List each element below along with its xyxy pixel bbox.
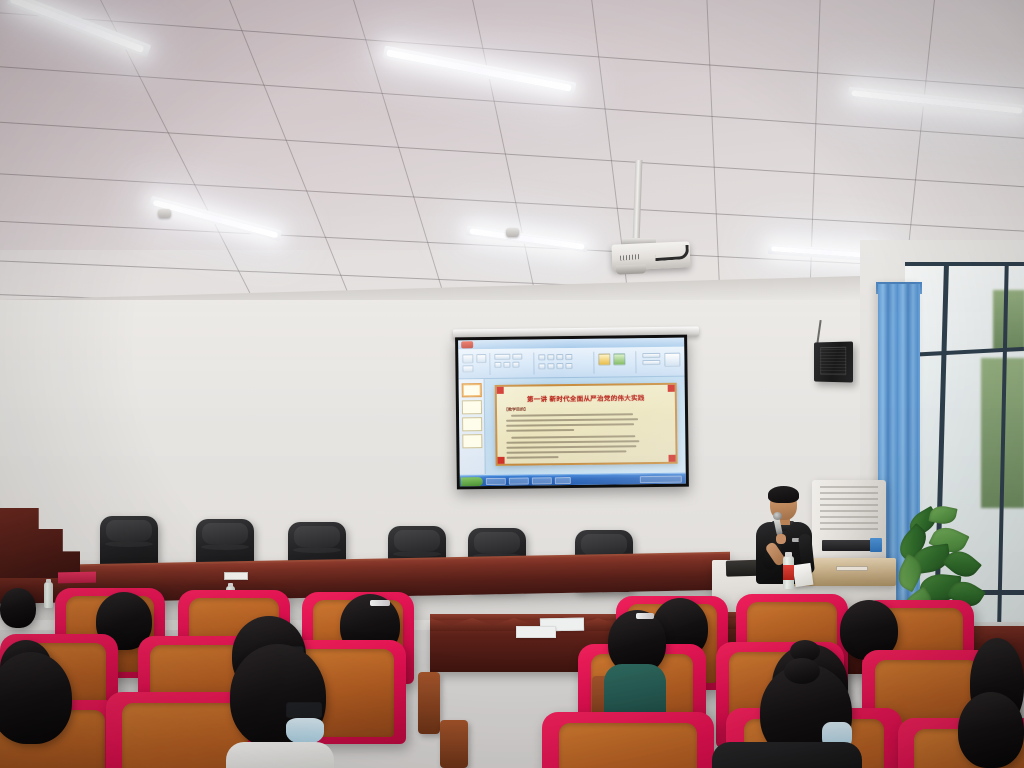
hair-clip bbox=[636, 613, 654, 619]
person-head bbox=[0, 652, 72, 744]
name-card bbox=[224, 572, 248, 580]
projector-vent bbox=[620, 254, 640, 261]
ceiling-tint bbox=[0, 0, 1024, 250]
replace-icon[interactable] bbox=[642, 360, 660, 365]
person-head bbox=[0, 588, 36, 628]
system-tray[interactable] bbox=[640, 476, 682, 484]
bottle-cap bbox=[46, 579, 51, 583]
slide-thumbnail[interactable] bbox=[462, 434, 482, 448]
smoke-detector-icon bbox=[506, 228, 519, 237]
presenter-hand bbox=[776, 534, 786, 544]
office-orb-icon[interactable] bbox=[461, 341, 473, 348]
projection-screen: 第一讲 新时代全面从严治党的伟大实践 【教学目的】 bbox=[455, 335, 689, 490]
speaker-grill-icon bbox=[820, 347, 846, 375]
start-button[interactable] bbox=[461, 477, 483, 486]
slide-corner-accent bbox=[495, 385, 504, 394]
chair-headrest bbox=[202, 523, 248, 544]
chair-headrest bbox=[581, 534, 627, 555]
face-mask bbox=[286, 718, 324, 744]
audience-member bbox=[958, 692, 1024, 768]
powerpoint-ribbon[interactable] bbox=[458, 347, 684, 380]
slide-body-line bbox=[506, 450, 626, 454]
slide-corner-accent bbox=[668, 383, 677, 392]
slide-thumbnail[interactable] bbox=[462, 383, 482, 397]
shape-gallery-icon[interactable] bbox=[598, 354, 610, 366]
person-head bbox=[958, 692, 1024, 768]
podium-paper-slot bbox=[836, 566, 868, 571]
chair-headrest bbox=[394, 530, 440, 551]
chair-headrest bbox=[106, 520, 152, 541]
bottle-label bbox=[783, 565, 794, 580]
drink-bottle bbox=[783, 556, 794, 589]
microphone-head-icon bbox=[773, 512, 782, 520]
audience-member bbox=[0, 588, 36, 628]
underline-icon[interactable] bbox=[512, 362, 519, 368]
select-icon[interactable] bbox=[664, 353, 680, 367]
number-list-icon[interactable] bbox=[547, 354, 554, 360]
audience-member bbox=[0, 652, 72, 744]
slide-thumbnail[interactable] bbox=[462, 417, 482, 431]
italic-icon[interactable] bbox=[503, 362, 510, 368]
slide-corner-accent bbox=[496, 457, 505, 466]
align-center-icon[interactable] bbox=[547, 363, 554, 369]
slide-thumbnail[interactable] bbox=[462, 400, 482, 414]
desk-paper bbox=[516, 626, 556, 638]
font-size-box[interactable] bbox=[512, 354, 522, 360]
hair-bun bbox=[784, 658, 820, 684]
seat-cushion bbox=[559, 723, 697, 768]
paste-icon[interactable] bbox=[462, 354, 473, 363]
ac-vent-icon bbox=[820, 486, 878, 530]
slide-body-line bbox=[511, 435, 635, 439]
presenter-hair bbox=[768, 486, 799, 503]
slide-body-line bbox=[507, 456, 559, 459]
smoke-detector-icon bbox=[158, 209, 171, 218]
seat-armrest bbox=[418, 672, 440, 734]
hair-clip bbox=[370, 600, 390, 606]
slide-body-line bbox=[506, 440, 639, 444]
presenter-notes bbox=[793, 563, 814, 587]
red-desk-pad bbox=[58, 572, 96, 584]
bullet-list-icon[interactable] bbox=[538, 354, 545, 360]
taskbar-item[interactable] bbox=[532, 477, 552, 484]
slide-body-line bbox=[511, 413, 633, 417]
person-torso bbox=[712, 742, 862, 768]
slide-body-line bbox=[506, 429, 574, 432]
slide-corner-accent bbox=[669, 455, 678, 464]
find-icon[interactable] bbox=[642, 353, 660, 358]
person-torso bbox=[226, 742, 334, 768]
chair-headrest bbox=[474, 532, 520, 553]
cut-icon[interactable] bbox=[462, 365, 473, 372]
windows-taskbar[interactable] bbox=[460, 473, 686, 487]
audience-member bbox=[230, 644, 326, 748]
projected-desktop: 第一讲 新时代全面从严治党的伟大实践 【教学目的】 bbox=[458, 338, 686, 487]
bottle-cap bbox=[785, 552, 792, 557]
justify-icon[interactable] bbox=[565, 363, 572, 369]
indent-icon[interactable] bbox=[556, 354, 563, 360]
lecture-hall-photo: 第一讲 新时代全面从严治党的伟大实践 【教学目的】 bbox=[0, 0, 1024, 768]
taskbar-item[interactable] bbox=[509, 478, 529, 485]
window-foliage-view bbox=[993, 290, 1024, 350]
slide-thumbnail-pane[interactable] bbox=[459, 379, 486, 474]
font-name-box[interactable] bbox=[494, 354, 510, 360]
wall-mounted-speaker bbox=[814, 341, 853, 382]
slide-body-line bbox=[506, 418, 638, 422]
slide-subheading: 【教学目的】 bbox=[504, 407, 528, 413]
new-slide-icon[interactable] bbox=[476, 354, 486, 363]
arrange-icon[interactable] bbox=[613, 353, 625, 365]
align-left-icon[interactable] bbox=[538, 363, 545, 369]
taskbar-item[interactable] bbox=[486, 478, 506, 485]
drink-bottle bbox=[44, 582, 53, 608]
ac-brand-badge bbox=[870, 538, 882, 552]
seat-armrest bbox=[440, 720, 468, 768]
projector-lens-icon bbox=[616, 264, 646, 274]
taskbar-item[interactable] bbox=[555, 477, 571, 484]
auditorium-seat[interactable] bbox=[542, 712, 714, 768]
slide-title: 第一讲 新时代全面从严治党的伟大实践 bbox=[497, 392, 675, 404]
current-slide[interactable]: 第一讲 新时代全面从严治党的伟大实践 【教学目的】 bbox=[495, 383, 678, 466]
eyeglasses bbox=[286, 702, 322, 718]
outdent-icon[interactable] bbox=[565, 354, 572, 360]
slide-body-line bbox=[506, 445, 636, 449]
bottle-cap bbox=[228, 583, 233, 587]
align-right-icon[interactable] bbox=[556, 363, 563, 369]
slide-body-line bbox=[506, 423, 634, 427]
bold-icon[interactable] bbox=[494, 362, 501, 368]
chair-headrest bbox=[294, 526, 340, 547]
